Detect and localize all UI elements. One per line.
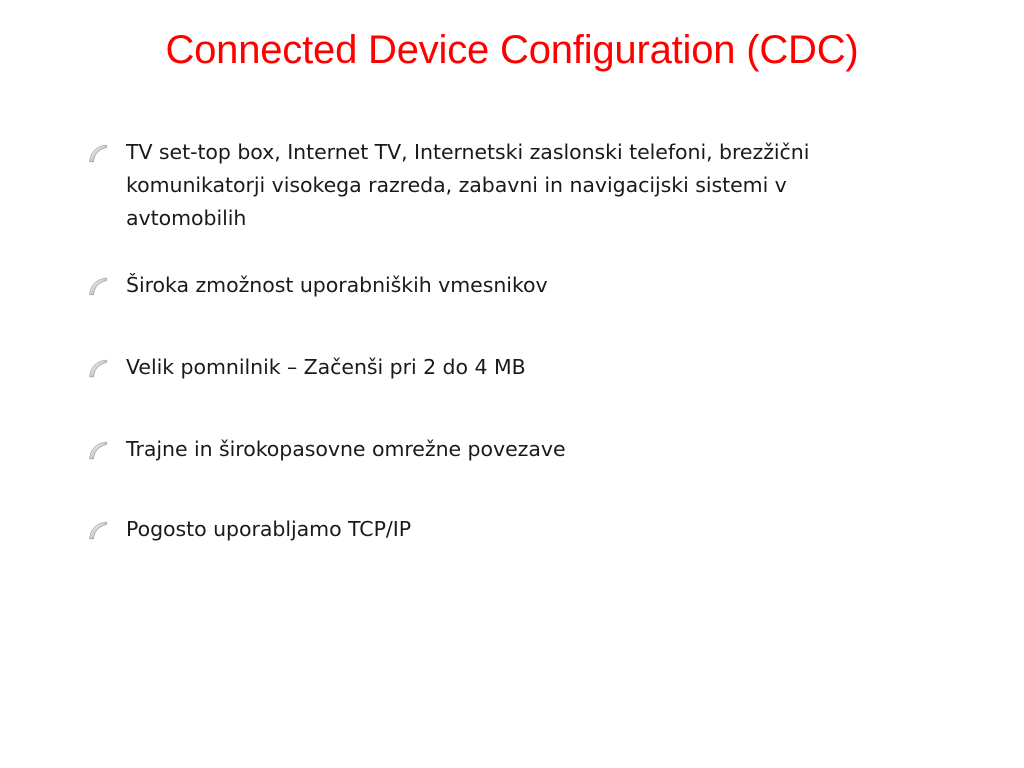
pennant-bullet-icon bbox=[88, 144, 108, 163]
pennant-bullet-icon bbox=[88, 441, 108, 460]
slide-canvas: Connected Device Configuration (CDC) TV … bbox=[0, 0, 1024, 768]
list-item[interactable]: Velik pomnilnik – Začenši pri 2 do 4 MB bbox=[80, 351, 960, 384]
list-item-label: Trajne in širokopasovne omrežne povezave bbox=[126, 433, 886, 466]
list-item-label: TV set-top box, Internet TV, Internetski… bbox=[126, 136, 881, 235]
list-item[interactable]: TV set-top box, Internet TV, Internetski… bbox=[80, 136, 960, 235]
list-item[interactable]: Široka zmožnost uporabniških vmesnikov bbox=[80, 269, 960, 302]
list-item-label: Široka zmožnost uporabniških vmesnikov bbox=[126, 269, 886, 302]
pennant-bullet-icon bbox=[88, 521, 108, 540]
list-item-label: Velik pomnilnik – Začenši pri 2 do 4 MB bbox=[126, 351, 886, 384]
list-item-label: Pogosto uporabljamo TCP/IP bbox=[126, 513, 886, 546]
pennant-bullet-icon bbox=[88, 277, 108, 296]
page-title: Connected Device Configuration (CDC) bbox=[0, 26, 1024, 74]
list-item[interactable]: Pogosto uporabljamo TCP/IP bbox=[80, 513, 960, 546]
list-item[interactable]: Trajne in širokopasovne omrežne povezave bbox=[80, 433, 960, 466]
pennant-bullet-icon bbox=[88, 359, 108, 378]
bullet-list: TV set-top box, Internet TV, Internetski… bbox=[80, 136, 960, 546]
